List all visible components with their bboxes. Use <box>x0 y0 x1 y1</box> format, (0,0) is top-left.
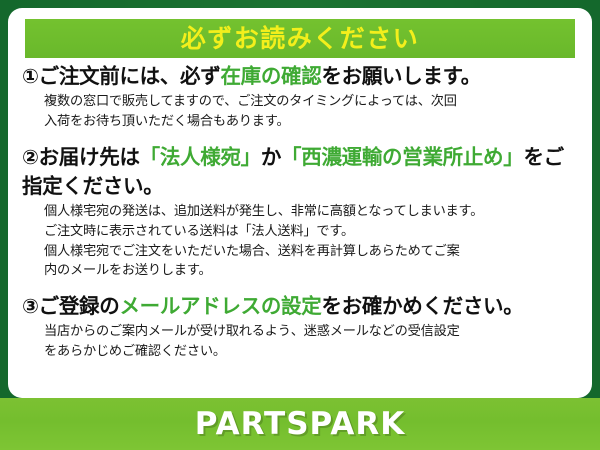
notice-item-2-body-line-3: 個人様宅宛でご注文をいただいた場合、送料を再計算しあらためてご案 <box>44 242 580 262</box>
notice-item-3-body-line-2: をあらかじめご確認ください。 <box>44 342 580 362</box>
notice-item-2-body-line-2: ご注文時に表示されている送料は「法人送料」です。 <box>44 222 580 242</box>
notice-item-2-heading-mid: か <box>261 145 281 169</box>
notice-item-2-number: ② <box>22 145 39 169</box>
header-title: 必ずお読みください <box>181 26 420 51</box>
notice-item-2-heading-pre: お届け先は <box>39 145 140 169</box>
notice-item-1-body-line-1: 複数の窓口で販売してますので、ご注文のタイミングによっては、次回 <box>44 92 580 112</box>
notice-item-3-heading-pre: ご登録の <box>39 294 120 318</box>
notice-item-2-heading-highlight: 「法人様宛」 <box>140 145 261 169</box>
notice-item-1: ①ご注文前には、必ず在庫の確認をお願いします。 複数の窓口で販売してますので、ご… <box>22 62 580 132</box>
notice-item-2-heading-highlight-2: 「西濃運輸の営業所止め」 <box>281 145 523 169</box>
notice-item-1-heading-post: をお願いします。 <box>321 64 481 88</box>
notice-item-2-body: 個人様宅宛の発送は、追加送料が発生し、非常に高額となってしまいます。 ご注文時に… <box>44 202 580 281</box>
notice-item-2-heading: ②お届け先は「法人様宛」か「西濃運輸の営業所止め」をご指定ください。 <box>22 143 580 201</box>
notice-item-1-heading-pre: ご注文前には、必ず <box>39 64 221 88</box>
notice-item-3-heading: ③ご登録のメールアドレスの設定をお確かめください。 <box>22 292 580 321</box>
notice-item-3-heading-highlight: メールアドレスの設定 <box>119 294 321 318</box>
item-spacer-1 <box>22 134 580 143</box>
notice-item-2-body-line-4: 内のメールをお送りします。 <box>44 261 580 281</box>
notice-item-2: ②お届け先は「法人様宛」か「西濃運輸の営業所止め」をご指定ください。 個人様宅宛… <box>22 143 580 281</box>
notice-list: ①ご注文前には、必ず在庫の確認をお願いします。 複数の窓口で販売してますので、ご… <box>8 62 592 364</box>
notice-item-3-number: ③ <box>22 294 39 318</box>
header-banner: 必ずお読みください <box>25 19 575 58</box>
notice-item-2-body-line-1: 個人様宅宛の発送は、追加送料が発生し、非常に高額となってしまいます。 <box>44 202 580 222</box>
brand-logo-text: PARTSPARK <box>195 409 406 440</box>
notice-item-1-body-line-2: 入荷をお待ち頂いただく場合もあります。 <box>44 112 580 132</box>
white-panel: 必ずお読みください ①ご注文前には、必ず在庫の確認をお願いします。 複数の窓口で… <box>8 8 592 398</box>
notice-item-3-heading-post: をお確かめください。 <box>321 294 523 318</box>
notice-item-1-number: ① <box>22 64 39 88</box>
notice-item-1-heading: ①ご注文前には、必ず在庫の確認をお願いします。 <box>22 62 580 91</box>
notice-item-3: ③ご登録のメールアドレスの設定をお確かめください。 当店からのご案内メールが受け… <box>22 292 580 362</box>
footer-brand-bar: PARTSPARK <box>0 398 600 450</box>
notice-item-3-body-line-1: 当店からのご案内メールが受け取れるよう、迷惑メールなどの受信設定 <box>44 322 580 342</box>
notice-item-1-heading-highlight: 在庫の確認 <box>220 64 321 88</box>
notice-image: 必ずお読みください ①ご注文前には、必ず在庫の確認をお願いします。 複数の窓口で… <box>0 0 600 450</box>
item-spacer-2 <box>22 283 580 292</box>
notice-item-3-body: 当店からのご案内メールが受け取れるよう、迷惑メールなどの受信設定 をあらかじめご… <box>44 322 580 362</box>
notice-item-1-body: 複数の窓口で販売してますので、ご注文のタイミングによっては、次回 入荷をお待ち頂… <box>44 92 580 132</box>
